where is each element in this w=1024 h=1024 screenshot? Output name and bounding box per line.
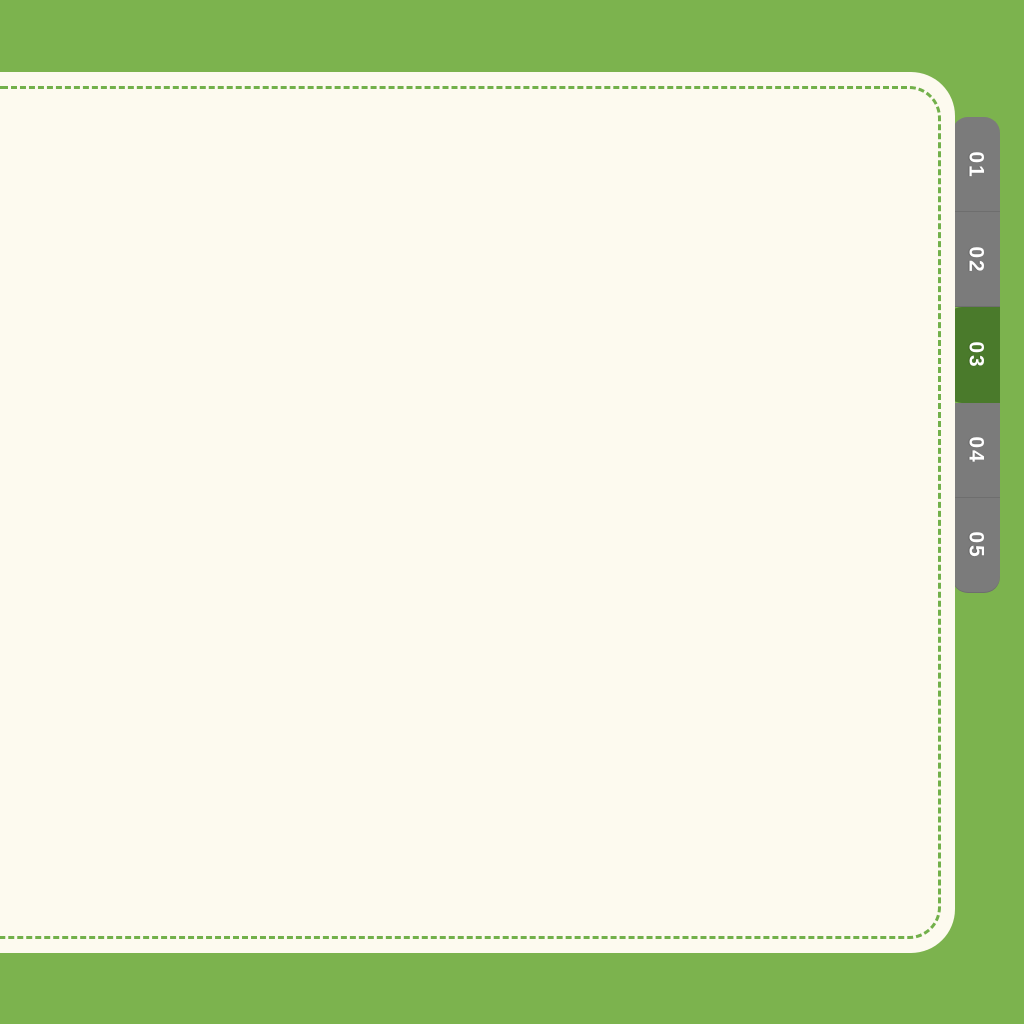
tab-01-label: 01 bbox=[964, 151, 988, 178]
tab-02[interactable]: 02 bbox=[952, 212, 1000, 307]
tab-04[interactable]: 04 bbox=[952, 403, 1000, 498]
tab-02-label: 02 bbox=[964, 246, 988, 273]
tab-05[interactable]: 05 bbox=[952, 498, 1000, 593]
tab-04-label: 04 bbox=[964, 437, 988, 464]
dashed-border-decoration bbox=[2, 86, 941, 939]
tab-05-label: 05 bbox=[964, 532, 988, 559]
section-tab-strip: 01 02 03 04 05 bbox=[952, 117, 1000, 593]
tab-03-label: 03 bbox=[964, 341, 988, 368]
tab-01[interactable]: 01 bbox=[952, 117, 1000, 212]
content-card bbox=[0, 72, 955, 953]
slide-root: 01 02 03 04 05 [ 견학 내용 ] 시설 개 bbox=[0, 0, 1024, 1024]
